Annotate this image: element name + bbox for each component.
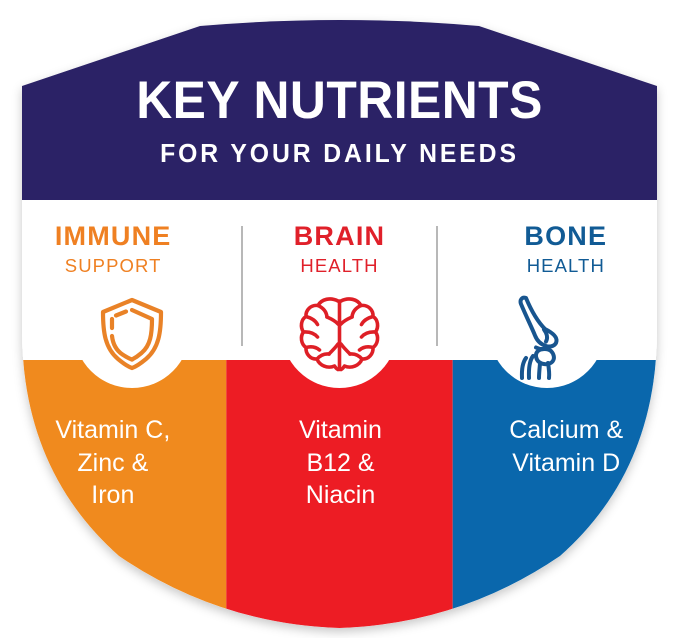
shield-graphic: [0, 0, 679, 638]
header-band: [0, 0, 679, 200]
band-bone: [453, 360, 679, 638]
notch-immune: [74, 272, 190, 388]
band-immune: [0, 360, 226, 638]
infographic-shield-badge: KEY NUTRIENTS FOR YOUR DAILY NEEDS IMMUN…: [0, 0, 679, 638]
band-brain: [226, 360, 452, 638]
